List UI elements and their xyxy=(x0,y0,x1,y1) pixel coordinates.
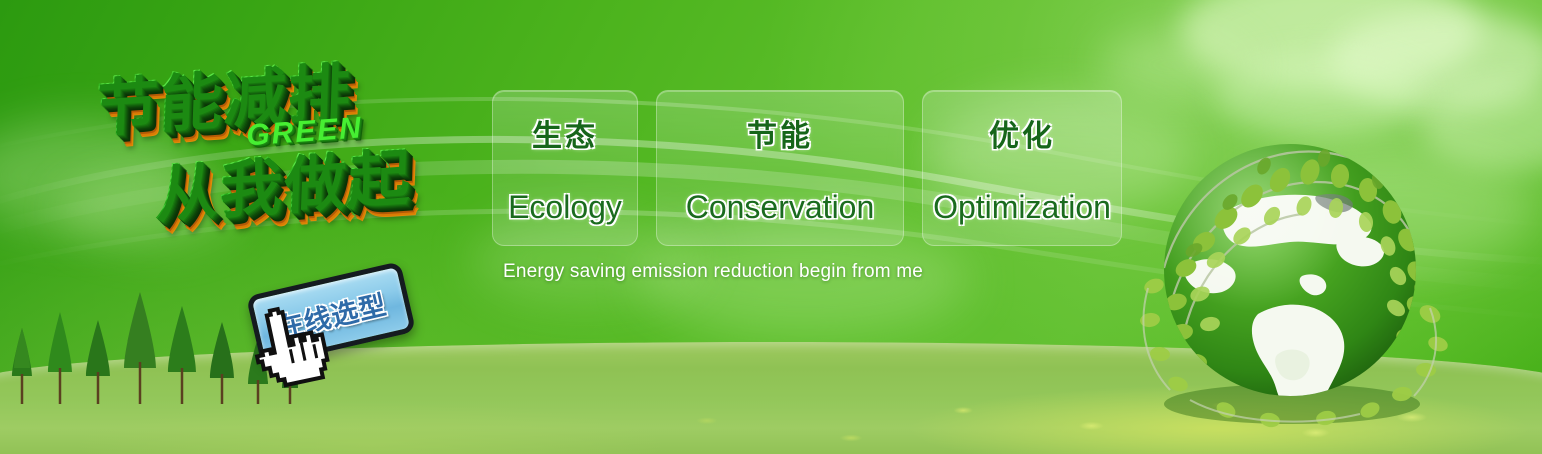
feature-card-cn-label: 节能 xyxy=(747,111,813,155)
green-energy-banner: 节能减排 GREEN 从我做起 在线选型 生态 Ecology 节能 Conse… xyxy=(0,0,1542,454)
feature-card-ecology[interactable]: 生态 Ecology xyxy=(492,90,638,246)
cloud-shape xyxy=(1100,30,1250,100)
cloud-shape xyxy=(60,170,240,250)
green-earth-globe xyxy=(1130,118,1450,438)
feature-card-en-label: Conservation xyxy=(686,189,875,226)
cloud-shape xyxy=(1330,10,1542,110)
feature-card-en-label: Ecology xyxy=(508,189,622,226)
cloud-shape xyxy=(0,120,200,230)
feature-card-cn-label: 生态 xyxy=(532,111,598,155)
feature-card-en-label: Optimization xyxy=(933,189,1111,226)
tagline-text: Energy saving emission reduction begin f… xyxy=(503,261,923,283)
headline-accent-green: GREEN xyxy=(245,111,364,153)
cloud-shape xyxy=(1180,0,1480,90)
headline-line-2: 从我做起 xyxy=(154,126,413,234)
feature-card-cn-label: 优化 xyxy=(989,111,1055,155)
headline-line-1: 节能减排 xyxy=(94,40,353,148)
feature-cards: 生态 Ecology 节能 Conservation 优化 Optimizati… xyxy=(492,90,1122,246)
headline-block: 节能减排 GREEN 从我做起 xyxy=(88,24,504,291)
feature-card-conservation[interactable]: 节能 Conservation xyxy=(656,90,904,246)
hand-pointer-icon xyxy=(244,306,330,390)
cta-area: 在线选型 xyxy=(252,278,422,368)
feature-card-optimization[interactable]: 优化 Optimization xyxy=(922,90,1122,246)
